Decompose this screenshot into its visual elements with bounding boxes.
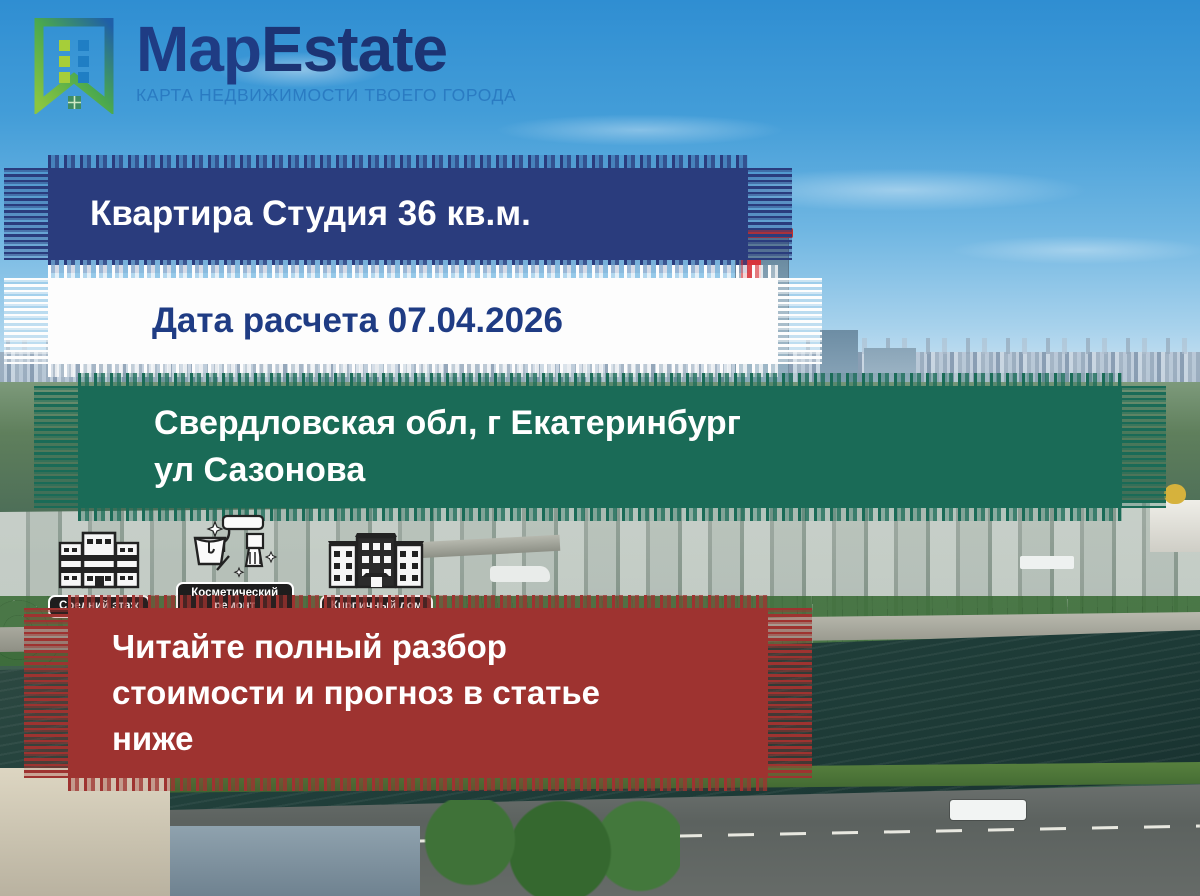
brush-edge-left — [34, 386, 78, 508]
brand-wordmark: MapEstate КАРТА НЕДВИЖИМОСТИ ТВОЕГО ГОРО… — [136, 20, 516, 106]
brand-name-estate: Estate — [261, 13, 447, 85]
brush-edge-left — [4, 168, 48, 260]
cta-line-1: Читайте полный разбор — [112, 628, 600, 666]
street-bus-lower — [950, 800, 1026, 820]
address-line-1: Свердловская обл, г Екатеринбург — [154, 404, 741, 443]
brush-edge-right — [768, 608, 812, 778]
brush-edge-bottom — [68, 778, 768, 791]
warehouse-roof — [170, 826, 420, 896]
brand-tagline: КАРТА НЕДВИЖИМОСТИ ТВОЕГО ГОРОДА — [136, 85, 516, 106]
street-bus-upper — [1020, 556, 1074, 569]
cta-line-3: ниже — [112, 720, 600, 758]
cta-banner[interactable]: Читайте полный разбор стоимости и прогно… — [68, 608, 768, 778]
brush-edge-top — [68, 595, 768, 608]
calculation-date-banner: Дата расчета 07.04.2026 — [48, 278, 778, 364]
brick-apartment-building-icon — [326, 525, 426, 591]
brand-name-map: Map — [136, 13, 261, 85]
brand-logo[interactable]: MapEstate КАРТА НЕДВИЖИМОСТИ ТВОЕГО ГОРО… — [32, 18, 516, 114]
address-banner: Свердловская обл, г Екатеринбург ул Сазо… — [78, 386, 1122, 508]
property-title-text: Квартира Студия 36 кв.м. — [90, 168, 531, 260]
brush-edge-top — [48, 155, 748, 168]
apartment-building-middle-floor-icon — [56, 525, 142, 591]
brush-edge-left — [4, 278, 48, 364]
bookmark-building-icon — [32, 18, 116, 114]
property-title-banner: Квартира Студия 36 кв.м. — [48, 168, 748, 260]
brush-edge-right — [778, 278, 822, 364]
brush-edge-top — [48, 265, 778, 278]
address-line-2: ул Сазонова — [154, 451, 741, 490]
address-text: Свердловская обл, г Екатеринбург ул Сазо… — [154, 386, 741, 508]
paint-bucket-roller-brush-icon — [189, 512, 281, 578]
poster-canvas: MapEstate КАРТА НЕДВИЖИМОСТИ ТВОЕГО ГОРО… — [0, 0, 1200, 896]
cta-text: Читайте полный разбор стоимости и прогно… — [112, 608, 600, 778]
calculation-date-text: Дата расчета 07.04.2026 — [152, 278, 563, 364]
tree-clump — [420, 800, 680, 896]
brush-edge-top — [78, 373, 1122, 386]
river-boat — [490, 566, 550, 582]
brand-name: MapEstate — [136, 20, 516, 79]
brush-edge-left — [24, 608, 68, 778]
cta-line-2: стоимости и прогноз в статье — [112, 674, 600, 712]
brush-edge-right — [748, 168, 792, 260]
brush-edge-right — [1122, 386, 1166, 508]
